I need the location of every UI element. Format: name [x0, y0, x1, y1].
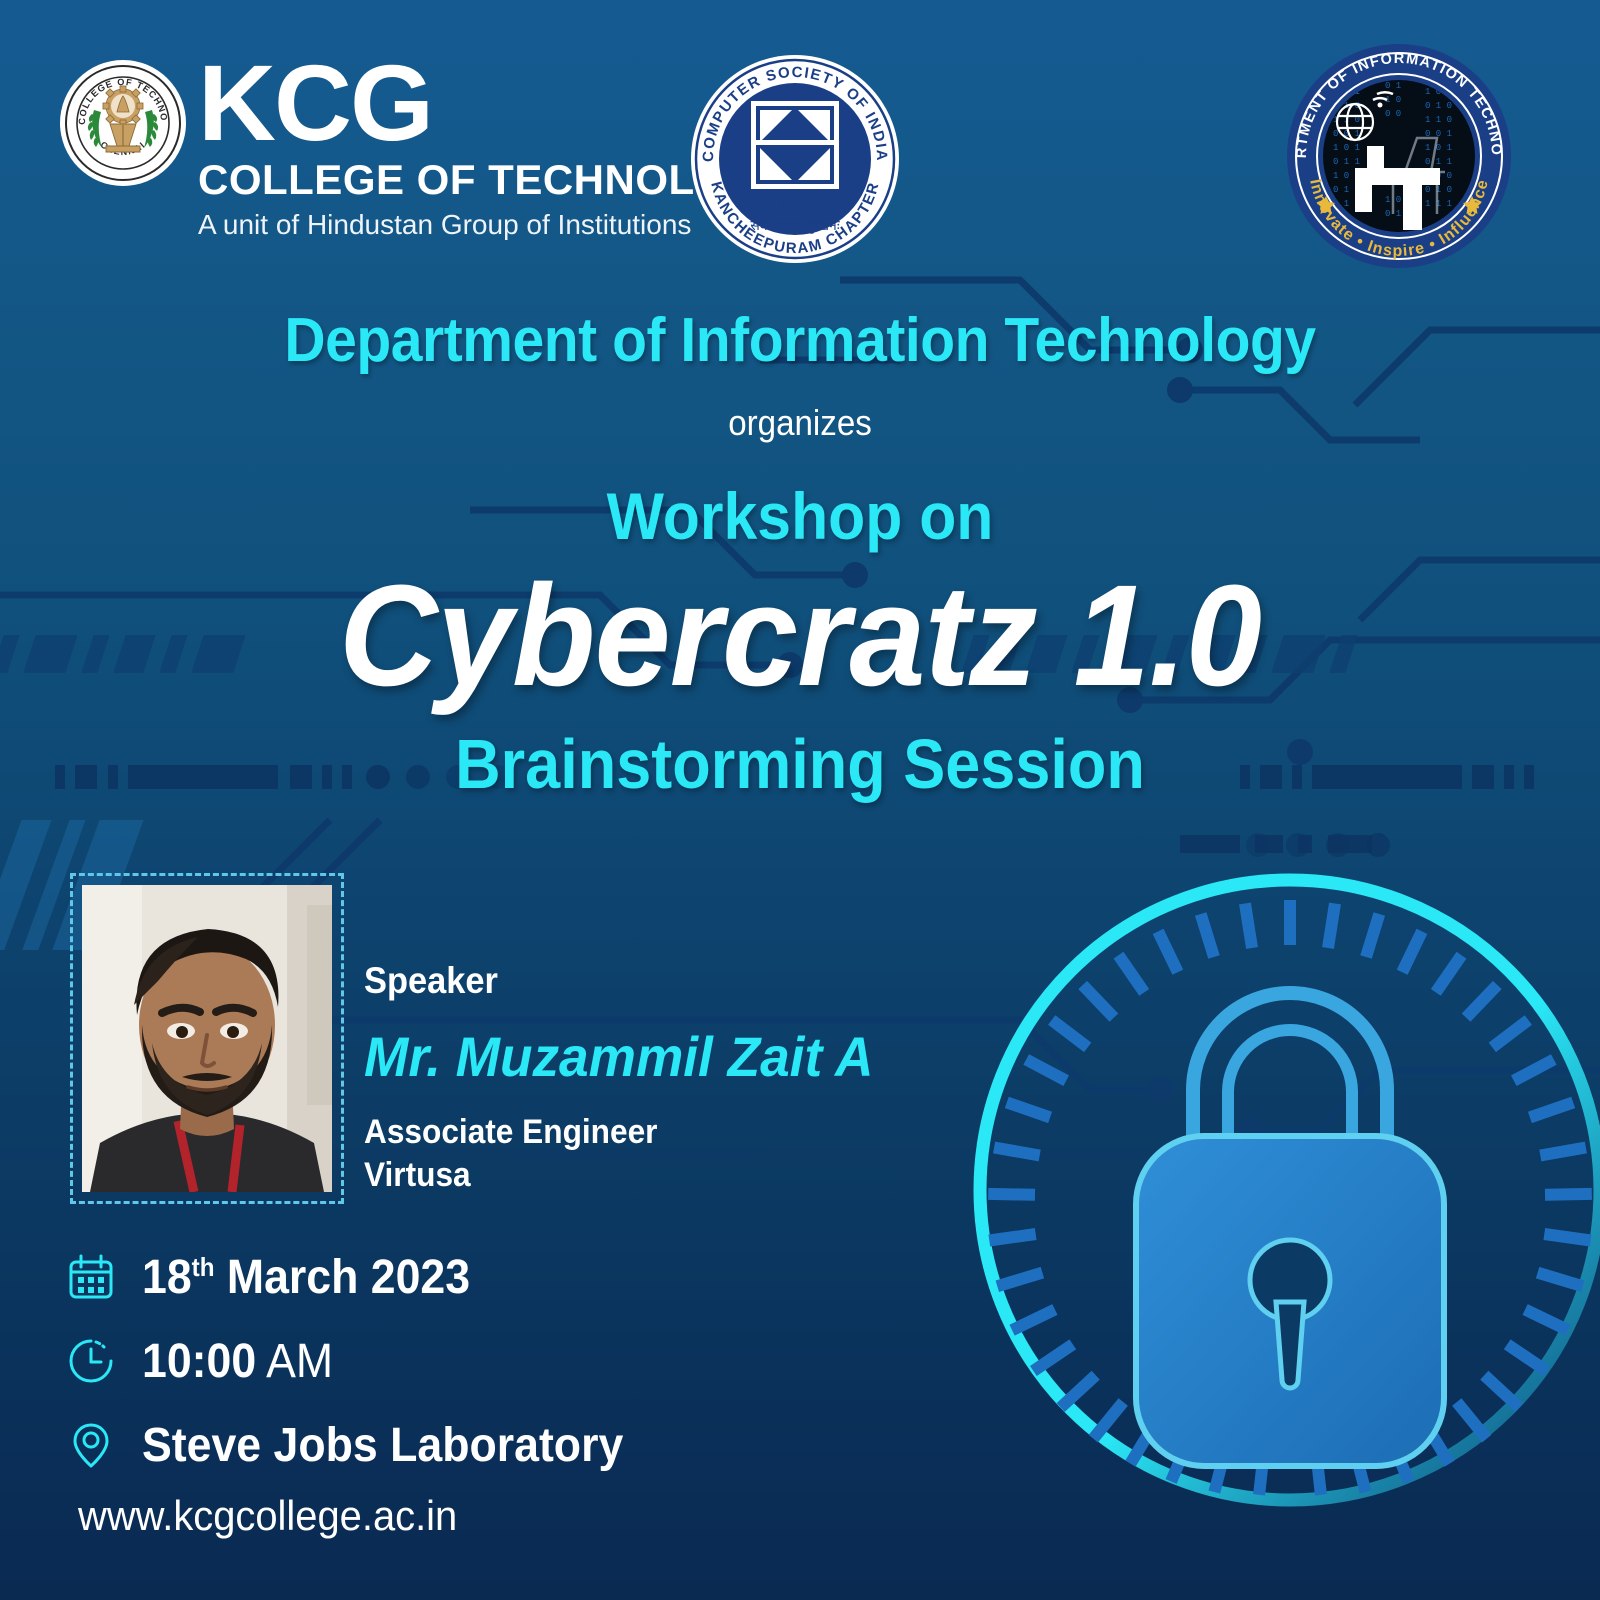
svg-text:0 1 1: 0 1 1 — [1425, 157, 1452, 167]
svg-text:ESTD. 1965: ESTD. 1965 — [751, 197, 838, 214]
kcg-seal-icon: KCG COLLEGE OF TECHNOLOGY CHENNAI — [58, 58, 188, 188]
clock-icon — [66, 1336, 116, 1386]
speaker-company: Virtusa — [364, 1154, 863, 1197]
logo-row: KCG COLLEGE OF TECHNOLOGY CHENNAI — [0, 0, 1600, 290]
padlock-graphic — [940, 840, 1600, 1540]
location-pin-icon — [66, 1420, 116, 1470]
event-date: 18th March 2023 — [142, 1250, 470, 1305]
speaker-role: Associate Engineer Virtusa — [364, 1111, 863, 1196]
svg-text:1 0 1: 1 0 1 — [1425, 143, 1452, 153]
it-department-logo-icon: 1 0 10 1 01 1 0 0 0 11 0 10 1 1 1 0 00 1… — [1285, 42, 1513, 270]
svg-text:0 1 0: 0 1 0 — [1425, 101, 1452, 111]
detail-row-date: 18th March 2023 — [66, 1248, 660, 1306]
event-details: 18th March 2023 10:00 AM Steve Jobs — [66, 1248, 660, 1500]
svg-text:1 1 0: 1 1 0 — [1425, 115, 1452, 125]
workshop-on-label: Workshop on — [64, 478, 1536, 554]
speaker-designation: Associate Engineer — [364, 1111, 863, 1154]
svg-text:0 1 0: 0 1 0 — [1425, 185, 1452, 195]
svg-text:सर्वे भवन्तु सुखिनः: सर्वे भवन्तु सुखिनः — [750, 217, 840, 234]
speaker-photo-frame — [70, 873, 344, 1204]
speaker-info: Speaker Mr. Muzammil Zait A Associate En… — [364, 960, 900, 1196]
svg-text:0 1 1: 0 1 1 — [1333, 157, 1360, 167]
event-time: 10:00 AM — [142, 1334, 333, 1389]
organizes-label: organizes — [64, 402, 1536, 444]
svg-text:1 1 1: 1 1 1 — [1425, 199, 1452, 209]
website-url[interactable]: www.kcgcollege.ac.in — [78, 1492, 457, 1540]
speaker-photo — [82, 885, 332, 1192]
svg-text:1 0 1: 1 0 1 — [1333, 143, 1360, 153]
detail-row-venue: Steve Jobs Laboratory — [66, 1416, 660, 1474]
department-title: Department of Information Technology — [64, 310, 1536, 372]
svg-text:0 1: 0 1 — [1385, 81, 1401, 91]
svg-text:1 0: 1 0 — [1385, 95, 1401, 105]
event-poster: KCG COLLEGE OF TECHNOLOGY CHENNAI — [0, 0, 1600, 1600]
speaker-label: Speaker — [364, 960, 863, 1002]
speaker-name: Mr. Muzammil Zait A — [364, 1024, 873, 1089]
svg-text:0 0: 0 0 — [1385, 109, 1401, 119]
event-name: Cybercratz 1.0 — [40, 564, 1560, 708]
event-subtitle: Brainstorming Session — [80, 724, 1520, 804]
calendar-icon — [66, 1252, 116, 1302]
kcg-logo: KCG COLLEGE OF TECHNOLOGY CHENNAI — [58, 58, 790, 241]
detail-row-time: 10:00 AM — [66, 1332, 660, 1390]
csi-logo-icon: COMPUTER SOCIETY OF INDIA KANCHEEPURAM C… — [688, 52, 902, 266]
event-venue: Steve Jobs Laboratory — [142, 1418, 623, 1473]
headline-block: Department of Information Technology org… — [0, 310, 1600, 804]
